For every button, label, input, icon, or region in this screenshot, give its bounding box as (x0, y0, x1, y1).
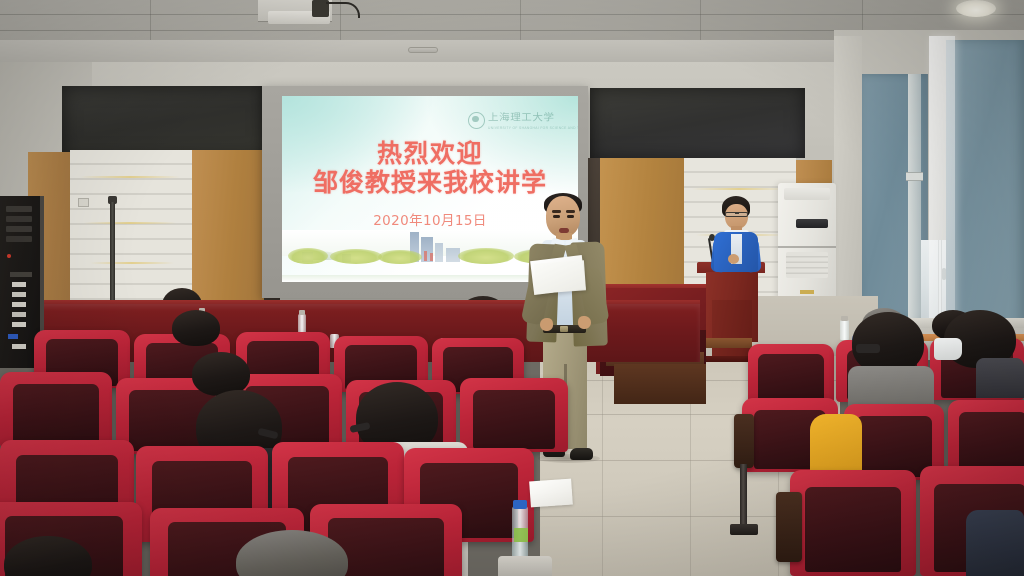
speaker-belt-buckle (560, 326, 568, 332)
slide-headline: 热烈欢迎 (282, 140, 578, 168)
rack-power-led (7, 254, 11, 258)
speaker-eyebrow-left (552, 210, 561, 213)
panorama-accent (430, 253, 433, 261)
water-bottle (298, 314, 306, 334)
water-bottle-cap (299, 310, 305, 315)
auditorium-seat-right[interactable] (948, 400, 1024, 476)
wood-panel-mid (192, 150, 264, 300)
ceiling-downlight (956, 0, 996, 17)
rack-panel (10, 272, 32, 277)
seat-armrest (776, 492, 802, 562)
speaker-hand-left (540, 318, 553, 331)
audience-shoulder-foreground (498, 556, 552, 576)
lecture-hall-photo: 上海理工大学 UNIVERSITY OF SHANGHAI FOR SCIENC… (0, 0, 1024, 576)
audience-head-glasses-right (852, 312, 924, 374)
university-logo-name-en: UNIVERSITY OF SHANGHAI FOR SCIENCE AND T… (488, 126, 578, 130)
auditorium-seat-right[interactable] (748, 344, 834, 404)
audience-body-foreground-right (966, 510, 1024, 576)
wall-pipe (110, 202, 115, 300)
lectern-base (712, 300, 752, 360)
slide-subheadline: 邹俊教授来我校讲学 (282, 168, 578, 198)
face-mask-icon (934, 338, 962, 360)
panorama-trees (330, 249, 382, 264)
university-logo-mark (468, 112, 485, 129)
speaker-eyebrow-right (566, 210, 575, 213)
wall-socket (78, 198, 89, 207)
water-bottle (840, 320, 849, 340)
audience-head-row3 (172, 310, 220, 346)
auditorium-seat[interactable] (0, 372, 112, 448)
audience-body-masked (976, 358, 1024, 398)
speaker-eye-left (553, 215, 560, 218)
auditorium-seat[interactable] (460, 378, 568, 452)
air-conditioner-display[interactable] (796, 219, 828, 228)
ceiling-vent (408, 47, 438, 53)
front-desk-right-lower (614, 364, 706, 404)
water-bottle-cap (841, 316, 848, 321)
panorama-trees (288, 248, 328, 264)
speaker-papers-second-sheet (534, 260, 586, 293)
seat-armrest (734, 414, 754, 468)
roller-blind-2[interactable] (946, 40, 1024, 332)
rack-button[interactable] (12, 302, 26, 307)
handout-papers (529, 479, 573, 508)
panorama-trees (458, 248, 514, 264)
speaker-shoe-right (570, 448, 593, 460)
projector-cable (326, 2, 360, 18)
rack-panel (6, 216, 32, 222)
rack-panel (6, 226, 32, 232)
auditorium-seat-foreground-right[interactable] (790, 470, 916, 576)
air-conditioner-lower-vent (786, 252, 828, 278)
university-logo: 上海理工大学 UNIVERSITY OF SHANGHAI FOR SCIENC… (468, 108, 566, 132)
speaker-eye-right (567, 215, 574, 218)
rack-button[interactable] (12, 282, 26, 287)
sheer-curtain[interactable] (929, 36, 955, 332)
stage-wood-trim (700, 338, 752, 348)
seat-leg-foot (730, 524, 758, 535)
panorama-accent (424, 251, 427, 261)
rack-button[interactable] (12, 344, 26, 349)
rack-button[interactable] (12, 312, 26, 317)
blackboard-right (590, 88, 805, 158)
panorama-trees (378, 250, 422, 264)
blackboard-left (62, 86, 267, 158)
speaker-hand-right (578, 316, 591, 329)
panorama-building (435, 243, 443, 262)
person-host (706, 196, 762, 272)
university-logo-name-cn: 上海理工大学 (488, 111, 578, 125)
blind-clip (906, 172, 923, 181)
blind-pull-band[interactable] (908, 74, 921, 318)
seat-leg (740, 464, 747, 528)
glasses-bridge (735, 213, 739, 214)
rack-panel (6, 236, 32, 242)
blue-water-bottle-cap (513, 500, 527, 509)
air-conditioner-label (800, 290, 814, 294)
glasses-icon (856, 344, 880, 353)
rack-indicator-blue (8, 334, 18, 339)
white-slat-panel-left (70, 150, 192, 300)
host-hands (728, 254, 739, 264)
air-conditioner-vent (784, 188, 830, 200)
rack-button[interactable] (12, 322, 26, 327)
air-conditioner-seam (778, 246, 836, 248)
rack-panel (6, 206, 32, 212)
rack-button[interactable] (12, 292, 26, 297)
bottle-label (514, 528, 528, 542)
